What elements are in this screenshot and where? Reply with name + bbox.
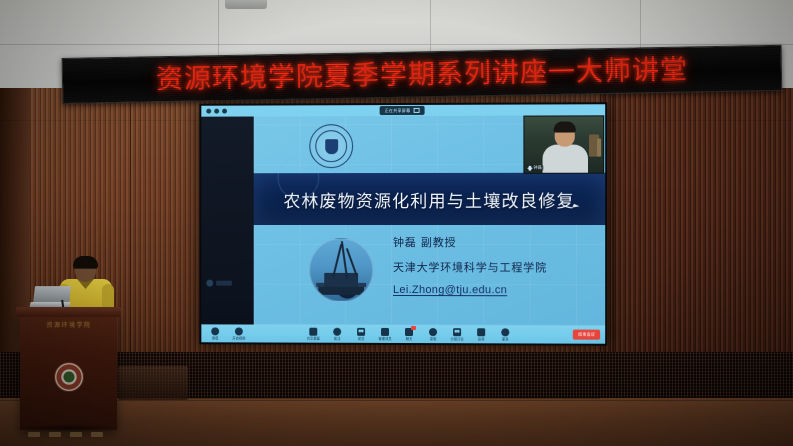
toolbar-item-label: 成员 xyxy=(358,336,365,340)
panel-seam xyxy=(130,88,131,358)
meeting-toolbar[interactable]: 静音 开启视频 共享屏幕 批注 xyxy=(201,324,605,343)
toolbar-video-button[interactable]: 开启视频 xyxy=(231,327,247,340)
toolbar-breakout-button[interactable]: 分组讨论 xyxy=(449,328,465,341)
toolbar-item-label: 管理成员 xyxy=(379,336,392,340)
participant-hair xyxy=(554,121,576,132)
window-dot[interactable] xyxy=(206,109,211,114)
end-meeting-button[interactable]: 结束会议 xyxy=(573,330,600,340)
floor-objects xyxy=(28,432,103,437)
podium: 资源环境学院 xyxy=(20,312,117,430)
floor-object xyxy=(70,432,82,437)
toolbar-record-button[interactable]: 录制 xyxy=(425,328,441,341)
chat-unread-badge xyxy=(411,326,416,330)
led-banner-text: 资源环境学院夏季学期系列讲座一大师讲堂 xyxy=(156,56,688,93)
annotate-icon xyxy=(206,280,213,287)
seal-shield xyxy=(325,139,338,154)
podium-top-surface xyxy=(16,307,121,317)
presenter-glasses xyxy=(73,268,97,273)
floor-seam xyxy=(180,398,600,399)
microphone-muted-icon xyxy=(528,165,531,170)
breakout-rooms-icon xyxy=(453,328,461,336)
meeting-window: 正在共享屏幕 农林废物资源化利用与土壤改良修复 xyxy=(201,104,605,344)
wall-seam xyxy=(0,44,793,45)
toolbar-more-button[interactable]: 更多 xyxy=(497,328,513,341)
toolbar-mute-button[interactable]: 静音 xyxy=(207,327,223,340)
toolbar-left-group[interactable]: 静音 开启视频 xyxy=(207,327,247,340)
podium-emblem-icon xyxy=(54,362,84,392)
share-indicator-label: 正在共享屏幕 xyxy=(385,106,411,115)
microphone-icon xyxy=(211,327,219,335)
toolbar-apps-button[interactable]: 应用 xyxy=(473,328,489,341)
presenter-name: 钟磊 副教授 xyxy=(393,234,547,250)
annotation-rail[interactable] xyxy=(201,116,254,324)
toolbar-manage-members-button[interactable]: 管理成员 xyxy=(377,327,393,340)
presenter-email[interactable]: Lei.Zhong@tju.edu.cn xyxy=(393,284,547,296)
rig-base xyxy=(318,287,364,295)
wall-seam xyxy=(640,0,641,50)
share-screen-icon xyxy=(309,327,317,335)
background-books xyxy=(597,138,601,156)
stage-floor xyxy=(0,398,793,446)
toolbar-center-group[interactable]: 共享屏幕 批注 成员 管理成员 xyxy=(305,327,513,341)
record-icon xyxy=(429,328,437,336)
window-dot[interactable] xyxy=(214,109,219,114)
more-icon xyxy=(501,328,509,336)
decor-circle xyxy=(278,157,320,199)
slide-presenter-info: 钟磊 副教授 天津大学环境科学与工程学院 Lei.Zhong@tju.edu.c… xyxy=(393,234,547,296)
floor-object xyxy=(49,432,61,437)
toolbar-chat-button[interactable]: 聊天 xyxy=(401,327,417,340)
toolbar-item-label: 应用 xyxy=(478,337,485,341)
presenter-affiliation: 天津大学环境科学与工程学院 xyxy=(393,259,547,275)
participant-body xyxy=(543,145,588,174)
participants-icon xyxy=(357,327,365,335)
seal-inner-ring xyxy=(315,130,347,162)
toolbar-participants-button[interactable]: 成员 xyxy=(353,327,369,340)
toolbar-item-label: 录制 xyxy=(430,337,437,341)
annotation-chip-label-bg xyxy=(216,281,232,286)
toolbar-item-label: 静音 xyxy=(212,336,218,340)
stop-share-icon[interactable] xyxy=(413,108,419,113)
floor-seam xyxy=(0,400,793,401)
toolbar-item-label: 批注 xyxy=(334,336,341,340)
annotate-icon xyxy=(333,327,341,335)
toolbar-item-label: 聊天 xyxy=(406,337,413,341)
lecture-hall-photo: 资源环境学院夏季学期系列讲座一大师讲堂 正在共享屏幕 xyxy=(0,0,793,446)
stage-furniture xyxy=(118,366,188,400)
window-controls[interactable] xyxy=(206,109,227,114)
participant-video-tile[interactable]: 钟磊 xyxy=(523,115,604,173)
slide-title-band: 农林废物资源化利用与土壤改良修复 xyxy=(254,173,605,225)
floor-object xyxy=(28,432,40,437)
toolbar-annotate-button[interactable]: 批注 xyxy=(329,327,345,340)
podium-shadow xyxy=(14,424,122,432)
manage-members-icon xyxy=(381,327,389,335)
toolbar-item-label: 开启视频 xyxy=(232,336,245,340)
camera-icon xyxy=(235,327,243,335)
toolbar-share-screen-button[interactable]: 共享屏幕 xyxy=(305,327,321,340)
slide-title: 农林废物资源化利用与土壤改良修复 xyxy=(283,186,575,211)
toolbar-item-label: 共享屏幕 xyxy=(307,336,320,340)
chat-icon xyxy=(405,328,413,336)
share-indicator[interactable]: 正在共享屏幕 xyxy=(380,106,425,115)
toolbar-item-label: 分组讨论 xyxy=(451,337,464,341)
ceiling-vent xyxy=(225,0,267,9)
window-dot[interactable] xyxy=(222,109,227,114)
projection-screen: 正在共享屏幕 农林废物资源化利用与土壤改良修复 xyxy=(199,102,607,346)
participant-name-badge: 钟磊 xyxy=(526,165,544,171)
annotation-chip[interactable] xyxy=(206,280,232,287)
slide-photo xyxy=(309,238,373,302)
toolbar-item-label: 更多 xyxy=(502,337,509,341)
panel-seam xyxy=(612,88,614,358)
apps-icon xyxy=(477,328,485,336)
university-seal-icon xyxy=(309,124,353,168)
floor-object xyxy=(91,432,103,437)
podium-engraved-text: 资源环境学院 xyxy=(26,320,112,329)
participant-name: 钟磊 xyxy=(533,165,541,171)
